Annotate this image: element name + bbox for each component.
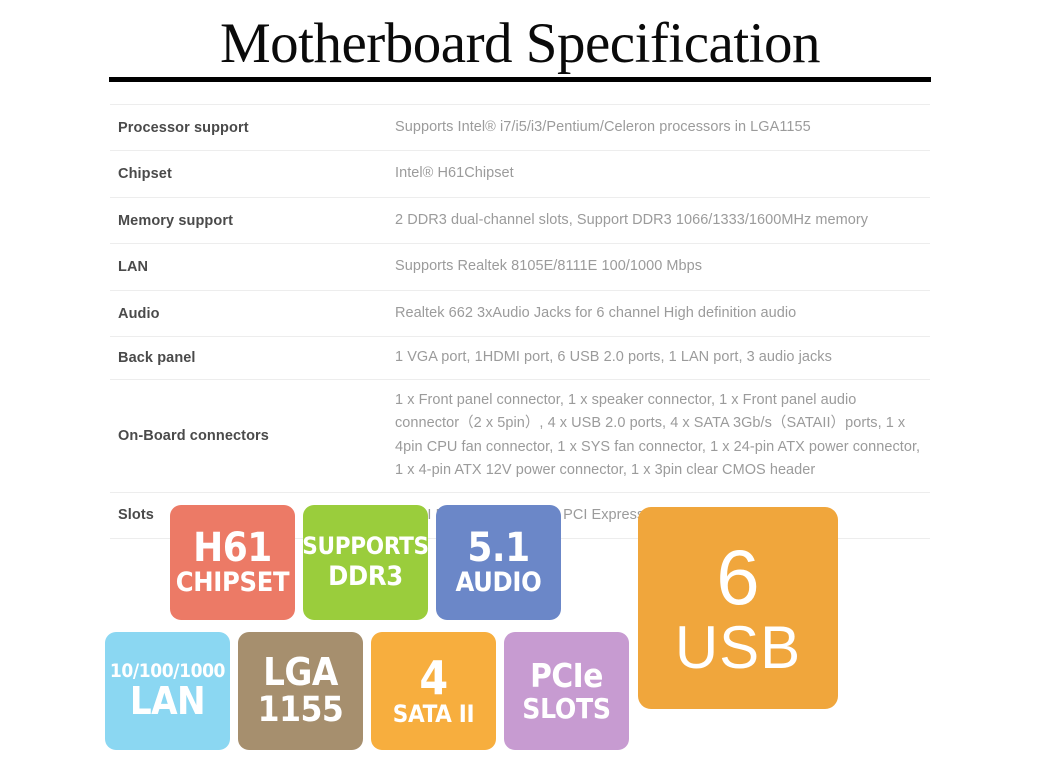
badge-4-sata-ii: 4 SATA II: [371, 632, 496, 750]
badge-lga-1155: LGA 1155: [238, 632, 363, 750]
title-underline-rule: [109, 77, 931, 82]
feature-badges: H61 CHIPSET SUPPORTS DDR3 5.1 AUDIO 10/1…: [0, 487, 1040, 765]
spec-label: Audio: [110, 290, 391, 336]
spec-value: Intel® H61Chipset: [391, 151, 930, 197]
badge-51-audio: 5.1 AUDIO: [436, 505, 561, 620]
badge-line-2: LAN: [130, 683, 205, 720]
table-row: Back panel 1 VGA port, 1HDMI port, 6 USB…: [110, 337, 930, 379]
table-row: On-Board connectors 1 x Front panel conn…: [110, 379, 930, 492]
page-title: Motherboard Specification: [109, 0, 931, 74]
badge-h61-chipset: H61 CHIPSET: [170, 505, 295, 620]
spec-label: Back panel: [110, 337, 391, 379]
specification-table: Processor support Supports Intel® i7/i5/…: [110, 104, 930, 539]
badge-line-1: PCIe: [530, 660, 603, 692]
spec-label: LAN: [110, 244, 391, 290]
badge-line-2: 1155: [258, 694, 344, 728]
spec-label: Processor support: [110, 104, 391, 150]
badge-line-1: H61: [193, 529, 272, 568]
spec-label: Memory support: [110, 197, 391, 243]
badge-lan: 10/100/1000 LAN: [105, 632, 230, 750]
spec-value: Supports Realtek 8105E/8111E 100/1000 Mb…: [391, 244, 930, 290]
spec-value: 1 x Front panel connector, 1 x speaker c…: [391, 379, 930, 492]
badge-6-usb: 6 USB: [638, 507, 838, 709]
badge-line-1: 5.1: [467, 529, 529, 568]
spec-label: On-Board connectors: [110, 379, 391, 492]
page-header: Motherboard Specification: [109, 0, 931, 82]
badge-line-2: SATA II: [393, 703, 474, 726]
table-row: Memory support 2 DDR3 dual-channel slots…: [110, 197, 930, 243]
table-row: LAN Supports Realtek 8105E/8111E 100/100…: [110, 244, 930, 290]
table-row: Chipset Intel® H61Chipset: [110, 151, 930, 197]
spec-value: Realtek 662 3xAudio Jacks for 6 channel …: [391, 290, 930, 336]
badge-line-1: 6: [716, 538, 759, 616]
badge-line-1: LGA: [263, 654, 338, 691]
spec-value: 2 DDR3 dual-channel slots, Support DDR3 …: [391, 197, 930, 243]
badge-pcie-slots: PCIe SLOTS: [504, 632, 629, 750]
badge-supports-ddr3: SUPPORTS DDR3: [303, 505, 428, 620]
spec-value: Supports Intel® i7/i5/i3/Pentium/Celeron…: [391, 104, 930, 150]
badge-line-1: SUPPORTS: [303, 535, 428, 558]
badge-line-2: AUDIO: [455, 570, 541, 596]
badge-line-1: 4: [419, 656, 447, 701]
badge-line-2: SLOTS: [522, 695, 610, 722]
badge-line-2: CHIPSET: [176, 570, 290, 596]
badge-line-2: USB: [675, 618, 801, 678]
table-row: Audio Realtek 662 3xAudio Jacks for 6 ch…: [110, 290, 930, 336]
spec-value: 1 VGA port, 1HDMI port, 6 USB 2.0 ports,…: [391, 337, 930, 379]
table-row: Processor support Supports Intel® i7/i5/…: [110, 104, 930, 150]
badge-line-2: DDR3: [328, 564, 403, 590]
spec-label: Chipset: [110, 151, 391, 197]
